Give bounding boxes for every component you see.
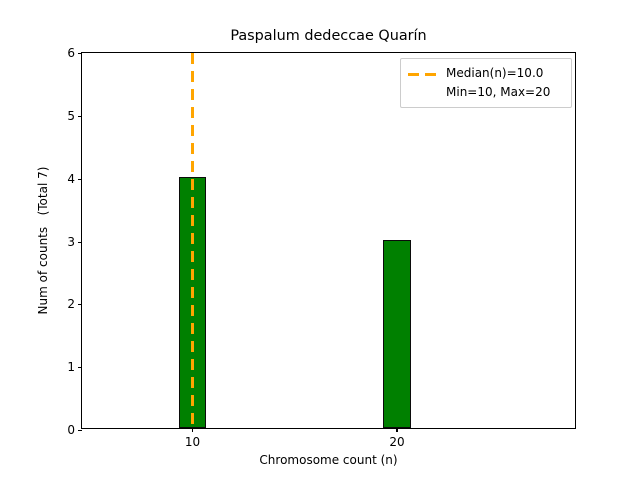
y-axis-tick-label: 5: [67, 110, 75, 122]
x-axis-tick-label: 10: [185, 435, 200, 449]
y-axis-tick-label: 2: [67, 298, 75, 310]
bar: [383, 240, 411, 429]
x-axis-tick: [192, 428, 193, 432]
y-axis-tick-label: 3: [67, 236, 75, 248]
chart-legend: Median(n)=10.0 Min=10, Max=20: [400, 58, 572, 108]
x-axis-tick: [396, 428, 397, 432]
median-line-swatch-icon: [408, 66, 438, 83]
legend-entry-minmax: Min=10, Max=20: [446, 84, 550, 101]
y-axis-tick: [78, 53, 82, 54]
y-axis-tick: [78, 304, 82, 305]
y-axis-tick-label: 0: [67, 424, 75, 436]
median-line-marker: [191, 53, 194, 428]
y-axis-label: Num of counts (Total 7): [34, 52, 52, 429]
y-axis-tick-label: 1: [67, 361, 75, 373]
chart-figure: Paspalum dedeccae Quarín 0123456 1020 Ch…: [0, 0, 640, 480]
y-axis-tick: [78, 367, 82, 368]
bars-layer: [82, 53, 575, 428]
y-axis-tick: [78, 179, 82, 180]
y-axis-tick-label: 6: [67, 47, 75, 59]
y-axis-tick-label: 4: [67, 173, 75, 185]
legend-entry-median: Median(n)=10.0: [446, 65, 550, 82]
plot-area: 0123456 1020: [81, 52, 576, 429]
y-axis-tick: [78, 242, 82, 243]
legend-entries: Median(n)=10.0 Min=10, Max=20: [446, 65, 550, 101]
chart-title: Paspalum dedeccae Quarín: [81, 28, 576, 45]
y-axis-tick: [78, 116, 82, 117]
y-axis-tick: [78, 430, 82, 431]
x-axis-tick-label: 20: [389, 435, 404, 449]
x-axis-label: Chromosome count (n): [81, 453, 576, 467]
